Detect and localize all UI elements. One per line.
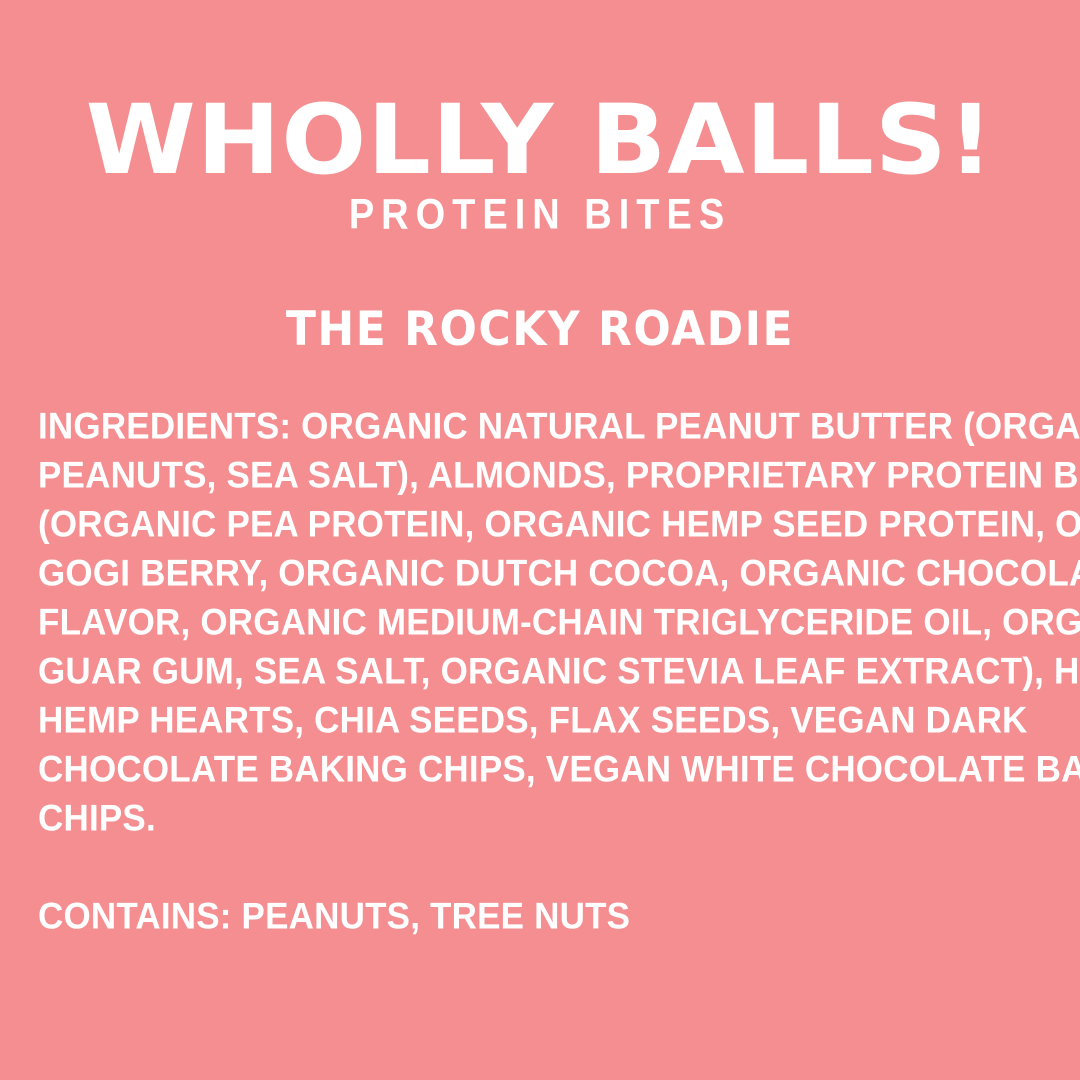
ingredients-line: GUAR GUM, SEA SALT, ORGANIC STEVIA LEAF … [38, 646, 1054, 698]
product-label-card: WHOLLY BALLS! PROTEIN BITES THE ROCKY RO… [0, 0, 1080, 1080]
paragraph-spacer [38, 843, 1054, 892]
allergen-contains-line: CONTAINS: PEANUTS, TREE NUTS [38, 891, 1054, 943]
product-name: THE ROCKY ROADIE [0, 306, 1080, 354]
ingredients-line: INGREDIENTS: ORGANIC NATURAL PEANUT BUTT… [38, 401, 1054, 453]
ingredients-line: FLAVOR, ORGANIC MEDIUM-CHAIN TRIGLYCERID… [38, 597, 1054, 649]
brand-block: WHOLLY BALLS! PROTEIN BITES [0, 96, 1080, 234]
ingredients-line: HEMP HEARTS, CHIA SEEDS, FLAX SEEDS, VEG… [38, 695, 1054, 747]
brand-title: WHOLLY BALLS! [0, 96, 1080, 184]
ingredients-line: (ORGANIC PEA PROTEIN, ORGANIC HEMP SEED … [38, 499, 1054, 551]
ingredients-line: PEANUTS, SEA SALT), ALMONDS, PROPRIETARY… [38, 450, 1054, 502]
ingredients-line: CHOCOLATE BAKING CHIPS, VEGAN WHITE CHOC… [38, 744, 1054, 796]
ingredients-block: INGREDIENTS: ORGANIC NATURAL PEANUT BUTT… [38, 402, 1054, 941]
ingredients-line: GOGI BERRY, ORGANIC DUTCH COCOA, ORGANIC… [38, 548, 1054, 600]
brand-subtitle: PROTEIN BITES [0, 194, 1080, 237]
ingredients-line: CHIPS. [38, 793, 1054, 845]
